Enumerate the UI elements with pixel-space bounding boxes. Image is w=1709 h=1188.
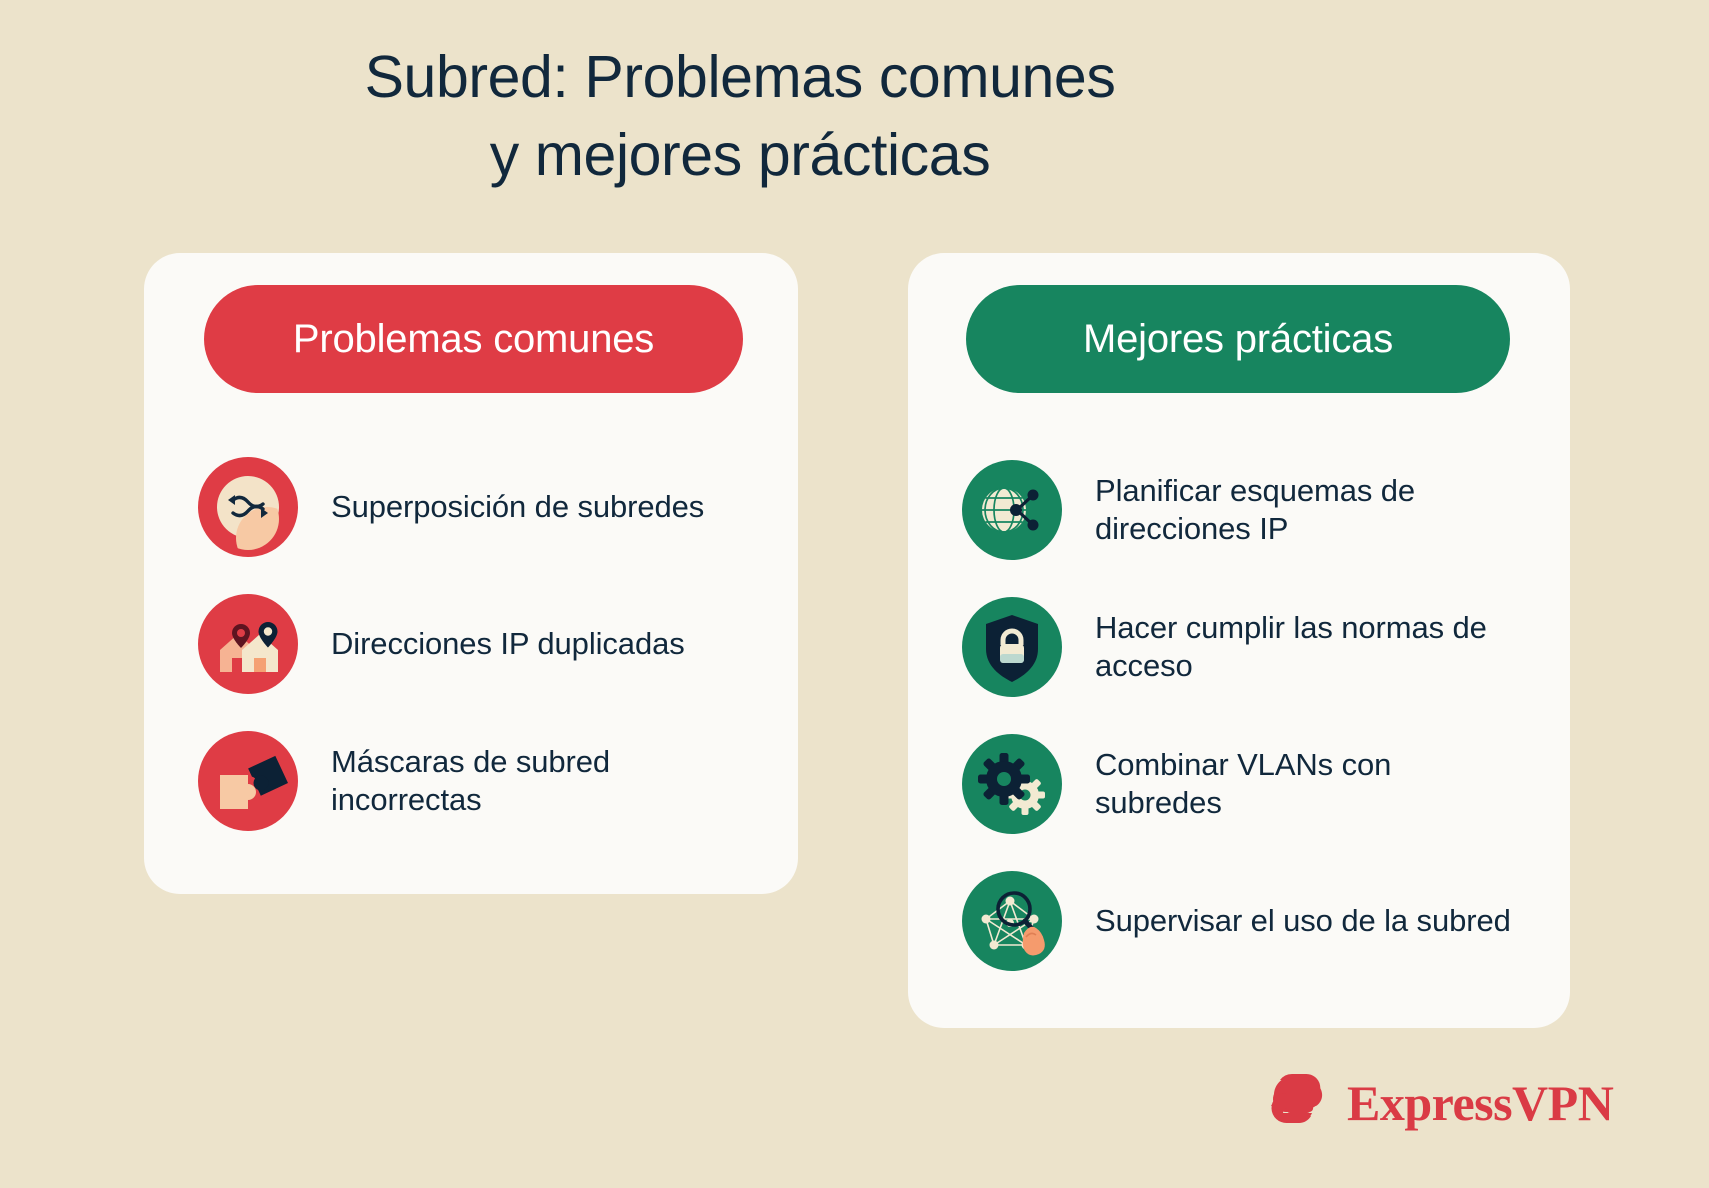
list-item[interactable]: Direcciones IP duplicadas bbox=[198, 575, 774, 712]
network-monitor-icon bbox=[962, 871, 1062, 971]
practices-panel-heading: Mejores prácticas bbox=[966, 285, 1510, 393]
list-item-label: Hacer cumplir las normas de acceso bbox=[1095, 609, 1525, 685]
list-item-label: Superposición de subredes bbox=[331, 488, 704, 526]
page-title: Subred: Problemas comunes y mejores prác… bbox=[0, 38, 1480, 195]
list-item-label: Planificar esquemas de direcciones IP bbox=[1095, 472, 1525, 548]
list-item[interactable]: Máscaras de subred incorrectas bbox=[198, 712, 774, 849]
expressvpn-e-mark-icon bbox=[1268, 1072, 1330, 1134]
expressvpn-wordmark: ExpressVPN bbox=[1347, 1078, 1613, 1128]
list-item[interactable]: Superposición de subredes bbox=[198, 438, 774, 575]
gears-icon bbox=[962, 734, 1062, 834]
list-item-label: Combinar VLANs con subredes bbox=[1095, 746, 1525, 822]
problems-panel: Problemas comunes Super bbox=[144, 253, 798, 894]
shield-lock-icon bbox=[962, 597, 1062, 697]
page-title-line-2: y mejores prácticas bbox=[0, 116, 1480, 194]
list-item[interactable]: Hacer cumplir las normas de acceso bbox=[962, 578, 1546, 715]
mismatched-puzzle-icon bbox=[198, 731, 298, 831]
list-item[interactable]: Combinar VLANs con subredes bbox=[962, 715, 1546, 852]
globe-network-icon bbox=[962, 460, 1062, 560]
list-item[interactable]: Supervisar el uso de la subred bbox=[962, 852, 1546, 989]
problems-panel-heading: Problemas comunes bbox=[204, 285, 743, 393]
overlapping-subnets-icon bbox=[198, 457, 298, 557]
list-item-label: Supervisar el uso de la subred bbox=[1095, 902, 1511, 940]
practices-panel: Mejores prácticas bbox=[908, 253, 1570, 1028]
page-title-line-1: Subred: Problemas comunes bbox=[0, 38, 1480, 116]
list-item-label: Máscaras de subred incorrectas bbox=[331, 743, 761, 819]
infographic-canvas: Subred: Problemas comunes y mejores prác… bbox=[0, 0, 1709, 1188]
list-item[interactable]: Planificar esquemas de direcciones IP bbox=[962, 441, 1546, 578]
duplicate-ip-houses-icon bbox=[198, 594, 298, 694]
expressvpn-logo[interactable]: ExpressVPN bbox=[1268, 1072, 1613, 1134]
problems-list: Superposición de subredes bbox=[198, 438, 774, 849]
list-item-label: Direcciones IP duplicadas bbox=[331, 625, 685, 663]
practices-list: Planificar esquemas de direcciones IP Ha… bbox=[962, 441, 1546, 989]
